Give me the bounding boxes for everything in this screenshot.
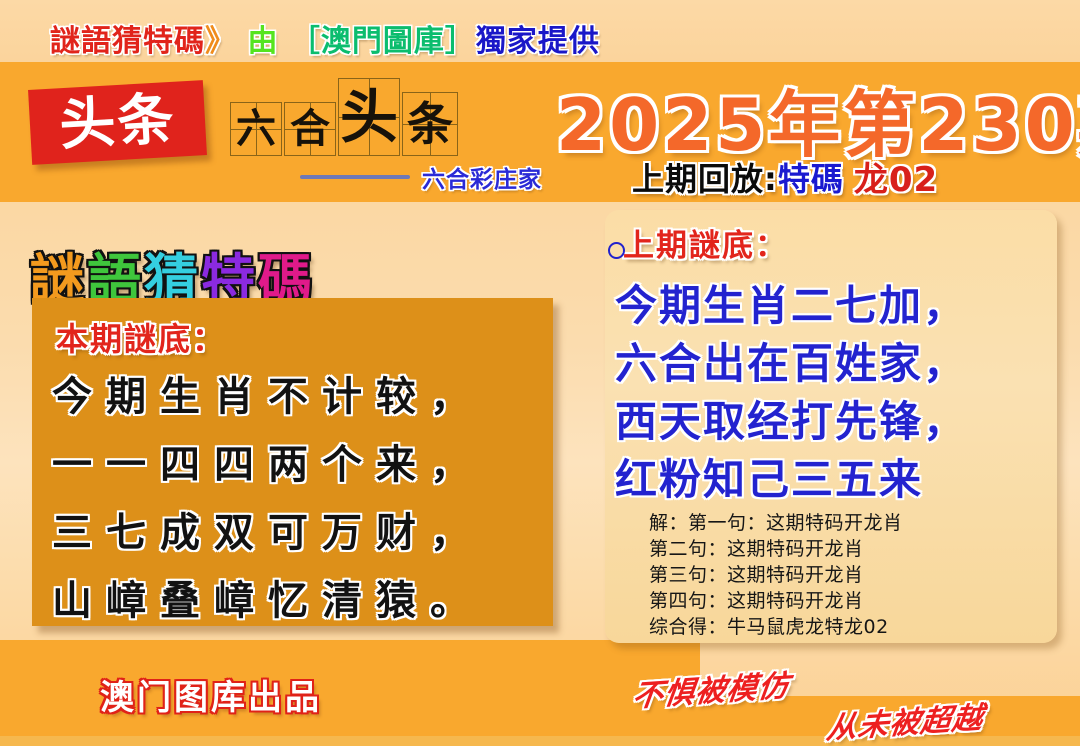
logo-grid: 六 合 头 条: [230, 78, 458, 156]
previous-poem-line-4: 红粉知己三五来: [615, 446, 923, 507]
recall-row: 上期回放:特碼龙02: [632, 152, 938, 201]
current-poem-line-3: 三七成双可万财，: [52, 500, 484, 558]
recall-type: 特碼: [778, 154, 844, 200]
logo-cell-1: 六: [230, 102, 282, 156]
current-poem-line-4: 山嶂叠嶂忆清猿。: [52, 568, 484, 626]
headline-segment-title: 謎語猜特碼: [50, 16, 205, 60]
logo-char-1: 六: [236, 109, 276, 149]
current-poem-line-2: 一一四四两个来，: [52, 432, 484, 490]
toutiao-badge: 头条: [28, 80, 207, 165]
explanation-row-5: 综合得：牛马鼠虎龙特龙02: [619, 612, 1049, 638]
toutiao-badge-label: 头条: [58, 91, 177, 153]
explanation-row-1: 解：第一句：这期特码开龙肖: [619, 508, 1049, 534]
headline-segment-source: ［澳門圖庫］: [290, 16, 476, 60]
explanation-row-3: 第三句：这期特码开龙肖: [619, 560, 1049, 586]
headline-segment-exclusive: 獨家提供: [476, 16, 600, 60]
current-poem-line-1: 今期生肖不计较，: [52, 364, 484, 422]
slogan-text: 六合彩庄家: [422, 160, 542, 194]
explanation-row-2: 第二句：这期特码开龙肖: [619, 534, 1049, 560]
headline: 謎語猜特碼》 由 ［澳門圖庫］獨家提供: [50, 16, 600, 60]
bullet-circle-icon: [608, 242, 625, 259]
slogan-row: 六合彩庄家: [300, 160, 542, 194]
headline-segment-by: 由: [247, 16, 278, 60]
logo-char-4: 条: [407, 101, 453, 147]
previous-poem-line-2: 六合出在百姓家，: [615, 330, 967, 391]
footer-brand: 澳门图库出品: [100, 670, 322, 719]
logo-cell-4: 条: [402, 92, 458, 156]
slogan-rule-line: [300, 175, 410, 179]
current-answer-panel: 本期謎底： 今期生肖不计较， 一一四四两个来， 三七成双可万财， 山嶂叠嶂忆清猿…: [32, 298, 553, 626]
logo-char-3: 头: [340, 88, 398, 146]
recall-number: 龙02: [854, 152, 938, 201]
explanation-row-4: 第四句：这期特码开龙肖: [619, 586, 1049, 612]
previous-answer-label: 上期謎底：: [623, 220, 788, 265]
poster-canvas: 謎語猜特碼》 由 ［澳門圖庫］獨家提供 头条 六 合 头 条 六合彩庄家 202…: [0, 0, 1080, 746]
headline-segment-bracket: 》: [205, 16, 236, 60]
logo-cell-2: 合: [284, 102, 336, 156]
previous-answer-panel: 上期謎底： 今期生肖二七加， 六合出在百姓家， 西天取经打先锋， 红粉知己三五来…: [605, 210, 1057, 643]
previous-poem-line-3: 西天取经打先锋，: [615, 388, 967, 449]
logo-cell-3: 头: [338, 78, 400, 156]
recall-label: 上期回放:: [632, 154, 778, 200]
logo-char-2: 合: [290, 109, 330, 149]
current-answer-label: 本期謎底：: [56, 314, 226, 360]
explanation-list: 解：第一句：这期特码开龙肖 第二句：这期特码开龙肖 第三句：这期特码开龙肖 第四…: [619, 508, 1049, 638]
previous-poem-line-1: 今期生肖二七加，: [615, 272, 967, 333]
